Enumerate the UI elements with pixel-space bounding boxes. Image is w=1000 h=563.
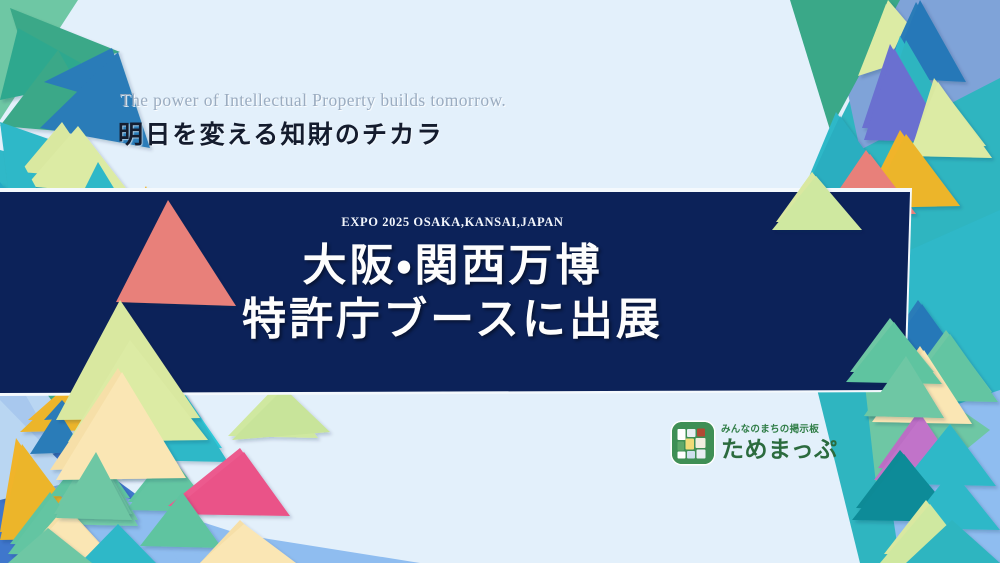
tamemap-tagline: みんなのまちの掲示板 [721,425,838,435]
tamemap-logo[interactable]: みんなのまちの掲示板 ためまっぷ [672,416,832,470]
tagline-block: The power of Intellectual Property build… [118,90,506,151]
tamemap-logo-icon [672,422,714,464]
tamemap-name: ためまっぷ [721,438,838,461]
decorative-background [0,0,1000,563]
tagline-english: The power of Intellectual Property build… [120,90,506,111]
tamemap-wordmark: みんなのまちの掲示板 ためまっぷ [721,425,838,461]
tagline-japanese: 明日を変える知財のチカラ [118,115,506,151]
expo-promo-banner: The power of Intellectual Property build… [0,0,1000,563]
